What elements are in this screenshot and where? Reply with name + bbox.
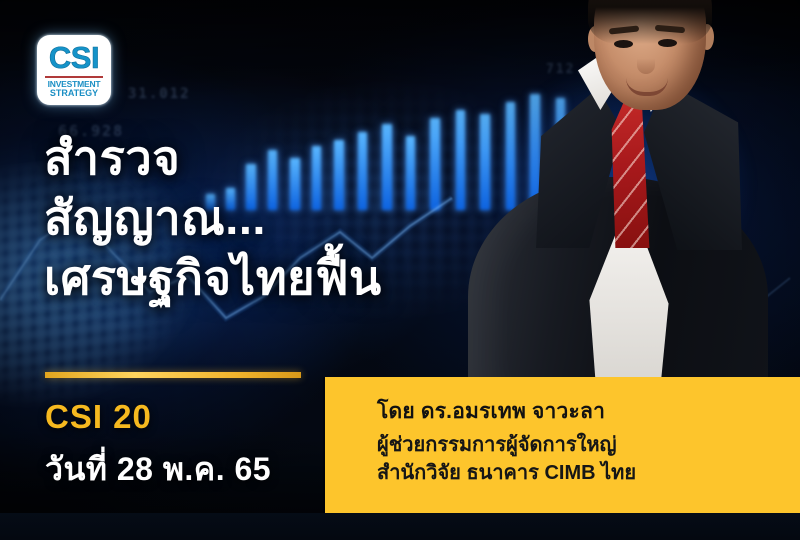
headline-line-1: สำรวจ: [44, 128, 474, 188]
photo-nose: [637, 48, 655, 74]
csi-logo: CSI INVESTMENT STRATEGY: [37, 35, 111, 105]
speaker-photo: [418, 0, 800, 392]
episode-date: วันที่ 28 พ.ค. 65: [45, 444, 271, 495]
photo-hair: [588, 0, 712, 44]
speaker-role-line-1: ผู้ช่วยกรรมการผู้จัดการใหญ่: [377, 431, 636, 459]
photo-eye-left: [614, 40, 633, 48]
headline-line-3: เศรษฐกิจไทยฟื้น: [44, 248, 474, 308]
headline-line-2: สัญญาณ...: [44, 188, 474, 248]
headline: สำรวจ สัญญาณ... เศรษฐกิจไทยฟื้น: [44, 128, 474, 308]
photo-eye-right: [658, 39, 677, 47]
logo-divider: [45, 76, 103, 78]
poster-canvas: 31.012 66.928 712.31 CSI INVESTMENT STRA…: [0, 0, 800, 540]
speaker-panel: โดย ดร.อมรเทพ จาวะลา ผู้ช่วยกรรมการผู้จั…: [325, 377, 800, 513]
speaker-role: ผู้ช่วยกรรมการผู้จัดการใหญ่ สำนักวิจัย ธ…: [377, 431, 636, 488]
logo-wordmark: CSI: [49, 42, 99, 73]
episode-label: CSI 20: [45, 398, 152, 436]
speaker-role-line-2: สำนักวิจัย ธนาคาร CIMB ไทย: [377, 459, 636, 487]
speaker-name: โดย ดร.อมรเทพ จาวะลา: [377, 395, 605, 428]
logo-subtitle-strategy: STRATEGY: [50, 89, 98, 98]
gold-divider-rule: [45, 372, 301, 378]
bottom-strip: [0, 513, 800, 540]
